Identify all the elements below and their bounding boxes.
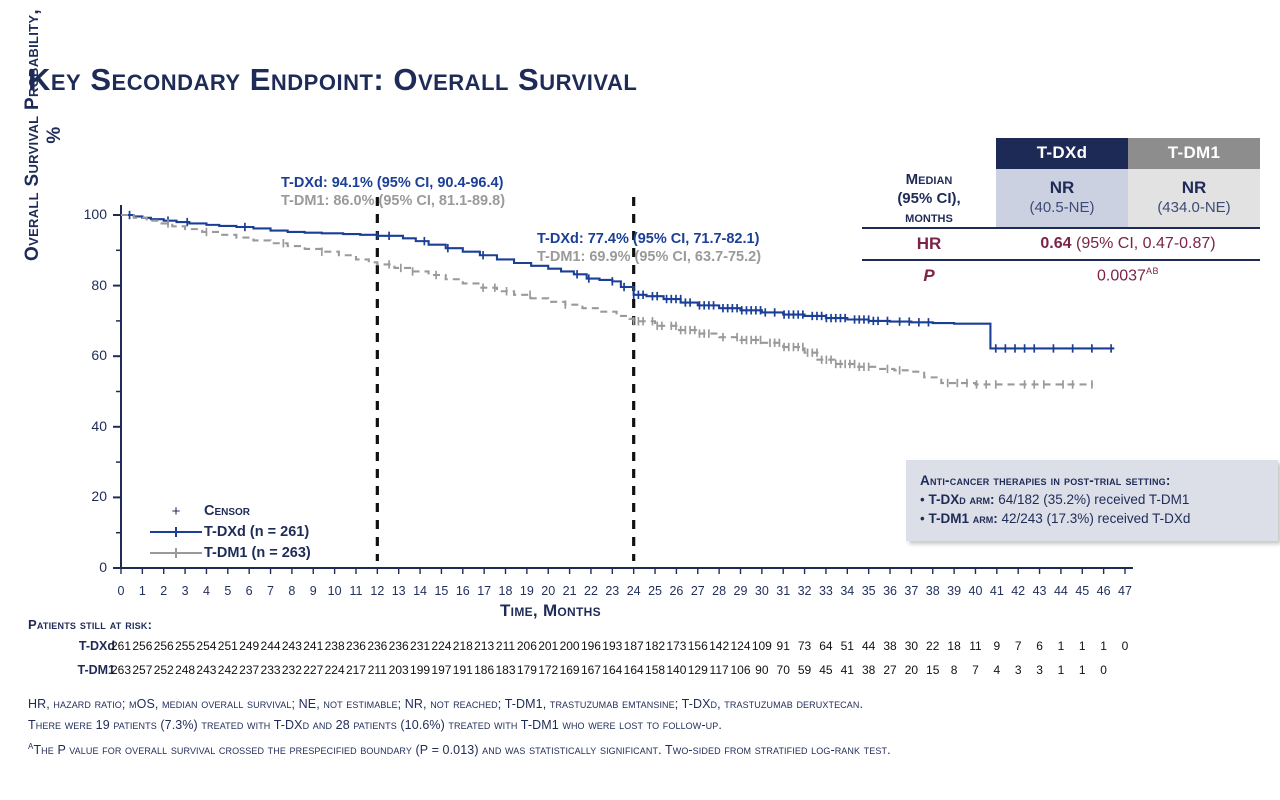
risk-value: 15 — [922, 663, 944, 677]
x-tick-24: 24 — [623, 584, 645, 598]
risk-value: 233 — [260, 663, 282, 677]
risk-value: 191 — [452, 663, 474, 677]
x-tick-20: 20 — [537, 584, 559, 598]
x-tick-5: 5 — [217, 584, 239, 598]
risk-value: 211 — [366, 663, 388, 677]
risk-value: 236 — [366, 639, 388, 653]
annotation-tdm1-12mo: T-DM1: 86.0% (95% CI, 81.1-89.8) — [281, 192, 505, 210]
x-tick-11: 11 — [345, 584, 367, 598]
risk-value: 1 — [1050, 639, 1072, 653]
risk-value: 30 — [900, 639, 922, 653]
risk-value: 251 — [217, 639, 239, 653]
row-label-hr: HR — [862, 234, 996, 254]
risk-value: 237 — [238, 663, 260, 677]
risk-value: 199 — [409, 663, 431, 677]
risk-value: 20 — [900, 663, 922, 677]
risk-value: 248 — [174, 663, 196, 677]
risk-value: 236 — [345, 639, 367, 653]
legend-line-tdm1-icon — [148, 545, 204, 561]
risk-value: 200 — [559, 639, 581, 653]
risk-value: 45 — [815, 663, 837, 677]
risk-value: 241 — [302, 639, 324, 653]
risk-value: 9 — [986, 639, 1008, 653]
x-tick-34: 34 — [836, 584, 858, 598]
risk-value: 217 — [345, 663, 367, 677]
row-label-median: Median (95% CI), months — [862, 169, 996, 227]
risk-value: 227 — [302, 663, 324, 677]
results-table-median-row: Median (95% CI), months NR (40.5-NE) NR … — [862, 169, 1260, 227]
risk-value: 236 — [388, 639, 410, 653]
risk-value: 169 — [559, 663, 581, 677]
risk-value: 18 — [943, 639, 965, 653]
median-cell-tdm1: NR (434.0-NE) — [1128, 169, 1260, 227]
post-trial-item-tdxd: • T-DXd arm: 64/182 (35.2%) received T-D… — [920, 490, 1264, 509]
slide-root: Key Secondary Endpoint: Overall Survival… — [0, 0, 1280, 800]
risk-value: 196 — [580, 639, 602, 653]
risk-value: 90 — [751, 663, 773, 677]
risk-value: 1 — [1093, 639, 1115, 653]
risk-value: 203 — [388, 663, 410, 677]
risk-value: 7 — [964, 663, 986, 677]
risk-value: 232 — [281, 663, 303, 677]
results-table: T-DXd T-DM1 Median (95% CI), months NR (… — [862, 138, 1260, 291]
risk-value: 11 — [964, 639, 986, 653]
page-title: Key Secondary Endpoint: Overall Survival — [28, 62, 637, 98]
x-tick-18: 18 — [495, 584, 517, 598]
risk-value: 164 — [623, 663, 645, 677]
x-tick-36: 36 — [879, 584, 901, 598]
risk-value: 27 — [879, 663, 901, 677]
x-tick-13: 13 — [388, 584, 410, 598]
x-tick-28: 28 — [708, 584, 730, 598]
x-tick-25: 25 — [644, 584, 666, 598]
y-axis-title: Overall Survival Probability, % — [22, 5, 66, 265]
footnote-p-value-note: AThe P value for overall survival crosse… — [28, 736, 1268, 761]
risk-value: 182 — [644, 639, 666, 653]
risk-value: 186 — [473, 663, 495, 677]
legend-label-tdm1: T-DM1 (n = 263) — [204, 545, 311, 561]
risk-value: 167 — [580, 663, 602, 677]
risk-value: 206 — [516, 639, 538, 653]
results-table-p-row: P 0.0037AB — [862, 259, 1260, 291]
post-trial-therapies-callout: Anti-cancer therapies in post-trial sett… — [906, 460, 1278, 541]
risk-value: 224 — [324, 663, 346, 677]
risk-value: 238 — [324, 639, 346, 653]
x-tick-2: 2 — [153, 584, 175, 598]
x-tick-47: 47 — [1114, 584, 1136, 598]
risk-value: 249 — [238, 639, 260, 653]
risk-value: 124 — [729, 639, 751, 653]
x-tick-40: 40 — [964, 584, 986, 598]
risk-value: 1 — [1050, 663, 1072, 677]
patients-at-risk-title: Patients still at risk: — [28, 617, 152, 632]
risk-value: 64 — [815, 639, 837, 653]
x-tick-14: 14 — [409, 584, 431, 598]
x-tick-30: 30 — [751, 584, 773, 598]
x-tick-10: 10 — [324, 584, 346, 598]
annotation-tdm1-24mo: T-DM1: 69.9% (95% CI, 63.7-75.2) — [537, 248, 761, 266]
risk-value: 242 — [217, 663, 239, 677]
x-tick-27: 27 — [687, 584, 709, 598]
risk-value: 179 — [516, 663, 538, 677]
risk-value: 224 — [430, 639, 452, 653]
x-tick-22: 22 — [580, 584, 602, 598]
risk-value: 1 — [1071, 663, 1093, 677]
x-tick-17: 17 — [473, 584, 495, 598]
risk-value: 263 — [110, 663, 132, 677]
x-tick-16: 16 — [452, 584, 474, 598]
post-trial-title: Anti-cancer therapies in post-trial sett… — [920, 471, 1264, 490]
risk-value: 59 — [794, 663, 816, 677]
results-table-hr-row: HR 0.64 (95% CI, 0.47-0.87) — [862, 227, 1260, 259]
risk-value: 256 — [153, 639, 175, 653]
annotation-tdxd-24mo: T-DXd: 77.4% (95% CI, 71.7-82.1) — [537, 230, 761, 248]
risk-value: 213 — [473, 639, 495, 653]
y-tick-20: 20 — [73, 488, 107, 504]
y-tick-0: 0 — [73, 559, 107, 575]
risk-value: 158 — [644, 663, 666, 677]
milestone-annotation-12mo: T-DXd: 94.1% (95% CI, 90.4-96.4) T-DM1: … — [281, 174, 505, 210]
risk-value: 254 — [195, 639, 217, 653]
risk-value: 4 — [986, 663, 1008, 677]
risk-value: 211 — [495, 639, 517, 653]
x-tick-42: 42 — [1007, 584, 1029, 598]
risk-value: 243 — [281, 639, 303, 653]
x-tick-46: 46 — [1093, 584, 1115, 598]
risk-value: 44 — [858, 639, 880, 653]
risk-value: 193 — [601, 639, 623, 653]
y-tick-40: 40 — [73, 418, 107, 434]
footnote-abbreviations: HR, hazard ratio; mOS, median overall su… — [28, 694, 1268, 715]
legend-label-tdxd: T-DXd (n = 261) — [204, 524, 309, 540]
x-tick-8: 8 — [281, 584, 303, 598]
x-tick-43: 43 — [1029, 584, 1051, 598]
risk-value: 255 — [174, 639, 196, 653]
risk-value: 173 — [665, 639, 687, 653]
hr-value: 0.64 (95% CI, 0.47-0.87) — [996, 235, 1260, 253]
risk-value: 109 — [751, 639, 773, 653]
x-tick-21: 21 — [559, 584, 581, 598]
risk-value: 197 — [430, 663, 452, 677]
x-tick-32: 32 — [794, 584, 816, 598]
risk-value: 231 — [409, 639, 431, 653]
x-tick-12: 12 — [366, 584, 388, 598]
risk-value: 70 — [772, 663, 794, 677]
x-tick-35: 35 — [858, 584, 880, 598]
x-tick-37: 37 — [900, 584, 922, 598]
x-tick-9: 9 — [302, 584, 324, 598]
x-tick-45: 45 — [1071, 584, 1093, 598]
row-label-p: P — [862, 266, 996, 286]
risk-value: 106 — [729, 663, 751, 677]
risk-value: 256 — [131, 639, 153, 653]
risk-value: 257 — [131, 663, 153, 677]
risk-value: 243 — [195, 663, 217, 677]
x-tick-7: 7 — [260, 584, 282, 598]
legend-label-censor: Censor — [204, 503, 250, 519]
x-tick-6: 6 — [238, 584, 260, 598]
risk-value: 7 — [1007, 639, 1029, 653]
milestone-annotation-24mo: T-DXd: 77.4% (95% CI, 71.7-82.1) T-DM1: … — [537, 230, 761, 266]
footnotes: HR, hazard ratio; mOS, median overall su… — [28, 694, 1268, 761]
risk-value: 142 — [708, 639, 730, 653]
legend-item-censor: + Censor — [148, 500, 311, 521]
median-cell-tdxd: NR (40.5-NE) — [996, 169, 1128, 227]
annotation-tdxd-12mo: T-DXd: 94.1% (95% CI, 90.4-96.4) — [281, 174, 505, 192]
x-tick-33: 33 — [815, 584, 837, 598]
x-axis-title: Time, Months — [500, 601, 601, 621]
results-table-header: T-DXd T-DM1 — [996, 138, 1260, 169]
risk-value: 218 — [452, 639, 474, 653]
risk-value: 51 — [836, 639, 858, 653]
x-tick-31: 31 — [772, 584, 794, 598]
risk-value: 261 — [110, 639, 132, 653]
chart-legend: + Censor T-DXd (n = 261) T-DM1 — [148, 500, 311, 563]
footnote-lost-to-followup: There were 19 patients (7.3%) treated wi… — [28, 715, 1268, 736]
risk-value: 38 — [879, 639, 901, 653]
x-tick-23: 23 — [601, 584, 623, 598]
risk-value: 164 — [601, 663, 623, 677]
risk-value: 41 — [836, 663, 858, 677]
risk-value: 156 — [687, 639, 709, 653]
risk-value: 187 — [623, 639, 645, 653]
risk-value: 183 — [495, 663, 517, 677]
risk-value: 201 — [537, 639, 559, 653]
risk-value: 1 — [1071, 639, 1093, 653]
risk-value: 0 — [1114, 639, 1136, 653]
risk-value: 0 — [1093, 663, 1115, 677]
risk-value: 252 — [153, 663, 175, 677]
column-header-tdm1: T-DM1 — [1128, 138, 1260, 169]
risk-value: 3 — [1007, 663, 1029, 677]
y-tick-100: 100 — [73, 206, 107, 222]
legend-item-tdxd: T-DXd (n = 261) — [148, 521, 311, 542]
p-value: 0.0037AB — [996, 266, 1260, 285]
x-tick-26: 26 — [665, 584, 687, 598]
risk-value: 172 — [537, 663, 559, 677]
risk-value: 8 — [943, 663, 965, 677]
risk-value: 129 — [687, 663, 709, 677]
risk-value: 117 — [708, 663, 730, 677]
risk-value: 140 — [665, 663, 687, 677]
risk-value: 38 — [858, 663, 880, 677]
risk-value: 6 — [1029, 639, 1051, 653]
legend-item-tdm1: T-DM1 (n = 263) — [148, 542, 311, 563]
risk-value: 91 — [772, 639, 794, 653]
y-tick-60: 60 — [73, 347, 107, 363]
x-tick-38: 38 — [922, 584, 944, 598]
risk-value: 73 — [794, 639, 816, 653]
x-tick-0: 0 — [110, 584, 132, 598]
x-tick-41: 41 — [986, 584, 1008, 598]
x-tick-39: 39 — [943, 584, 965, 598]
post-trial-item-tdm1: • T-DM1 arm: 42/243 (17.3%) received T-D… — [920, 509, 1264, 528]
x-tick-4: 4 — [195, 584, 217, 598]
x-tick-15: 15 — [430, 584, 452, 598]
risk-value: 244 — [260, 639, 282, 653]
censor-marker-icon: + — [148, 503, 204, 519]
legend-line-tdxd-icon — [148, 524, 204, 540]
risk-value: 22 — [922, 639, 944, 653]
x-tick-1: 1 — [131, 584, 153, 598]
column-header-tdxd: T-DXd — [996, 138, 1128, 169]
risk-value: 3 — [1029, 663, 1051, 677]
y-tick-80: 80 — [73, 277, 107, 293]
x-tick-44: 44 — [1050, 584, 1072, 598]
x-tick-3: 3 — [174, 584, 196, 598]
x-tick-19: 19 — [516, 584, 538, 598]
x-tick-29: 29 — [729, 584, 751, 598]
